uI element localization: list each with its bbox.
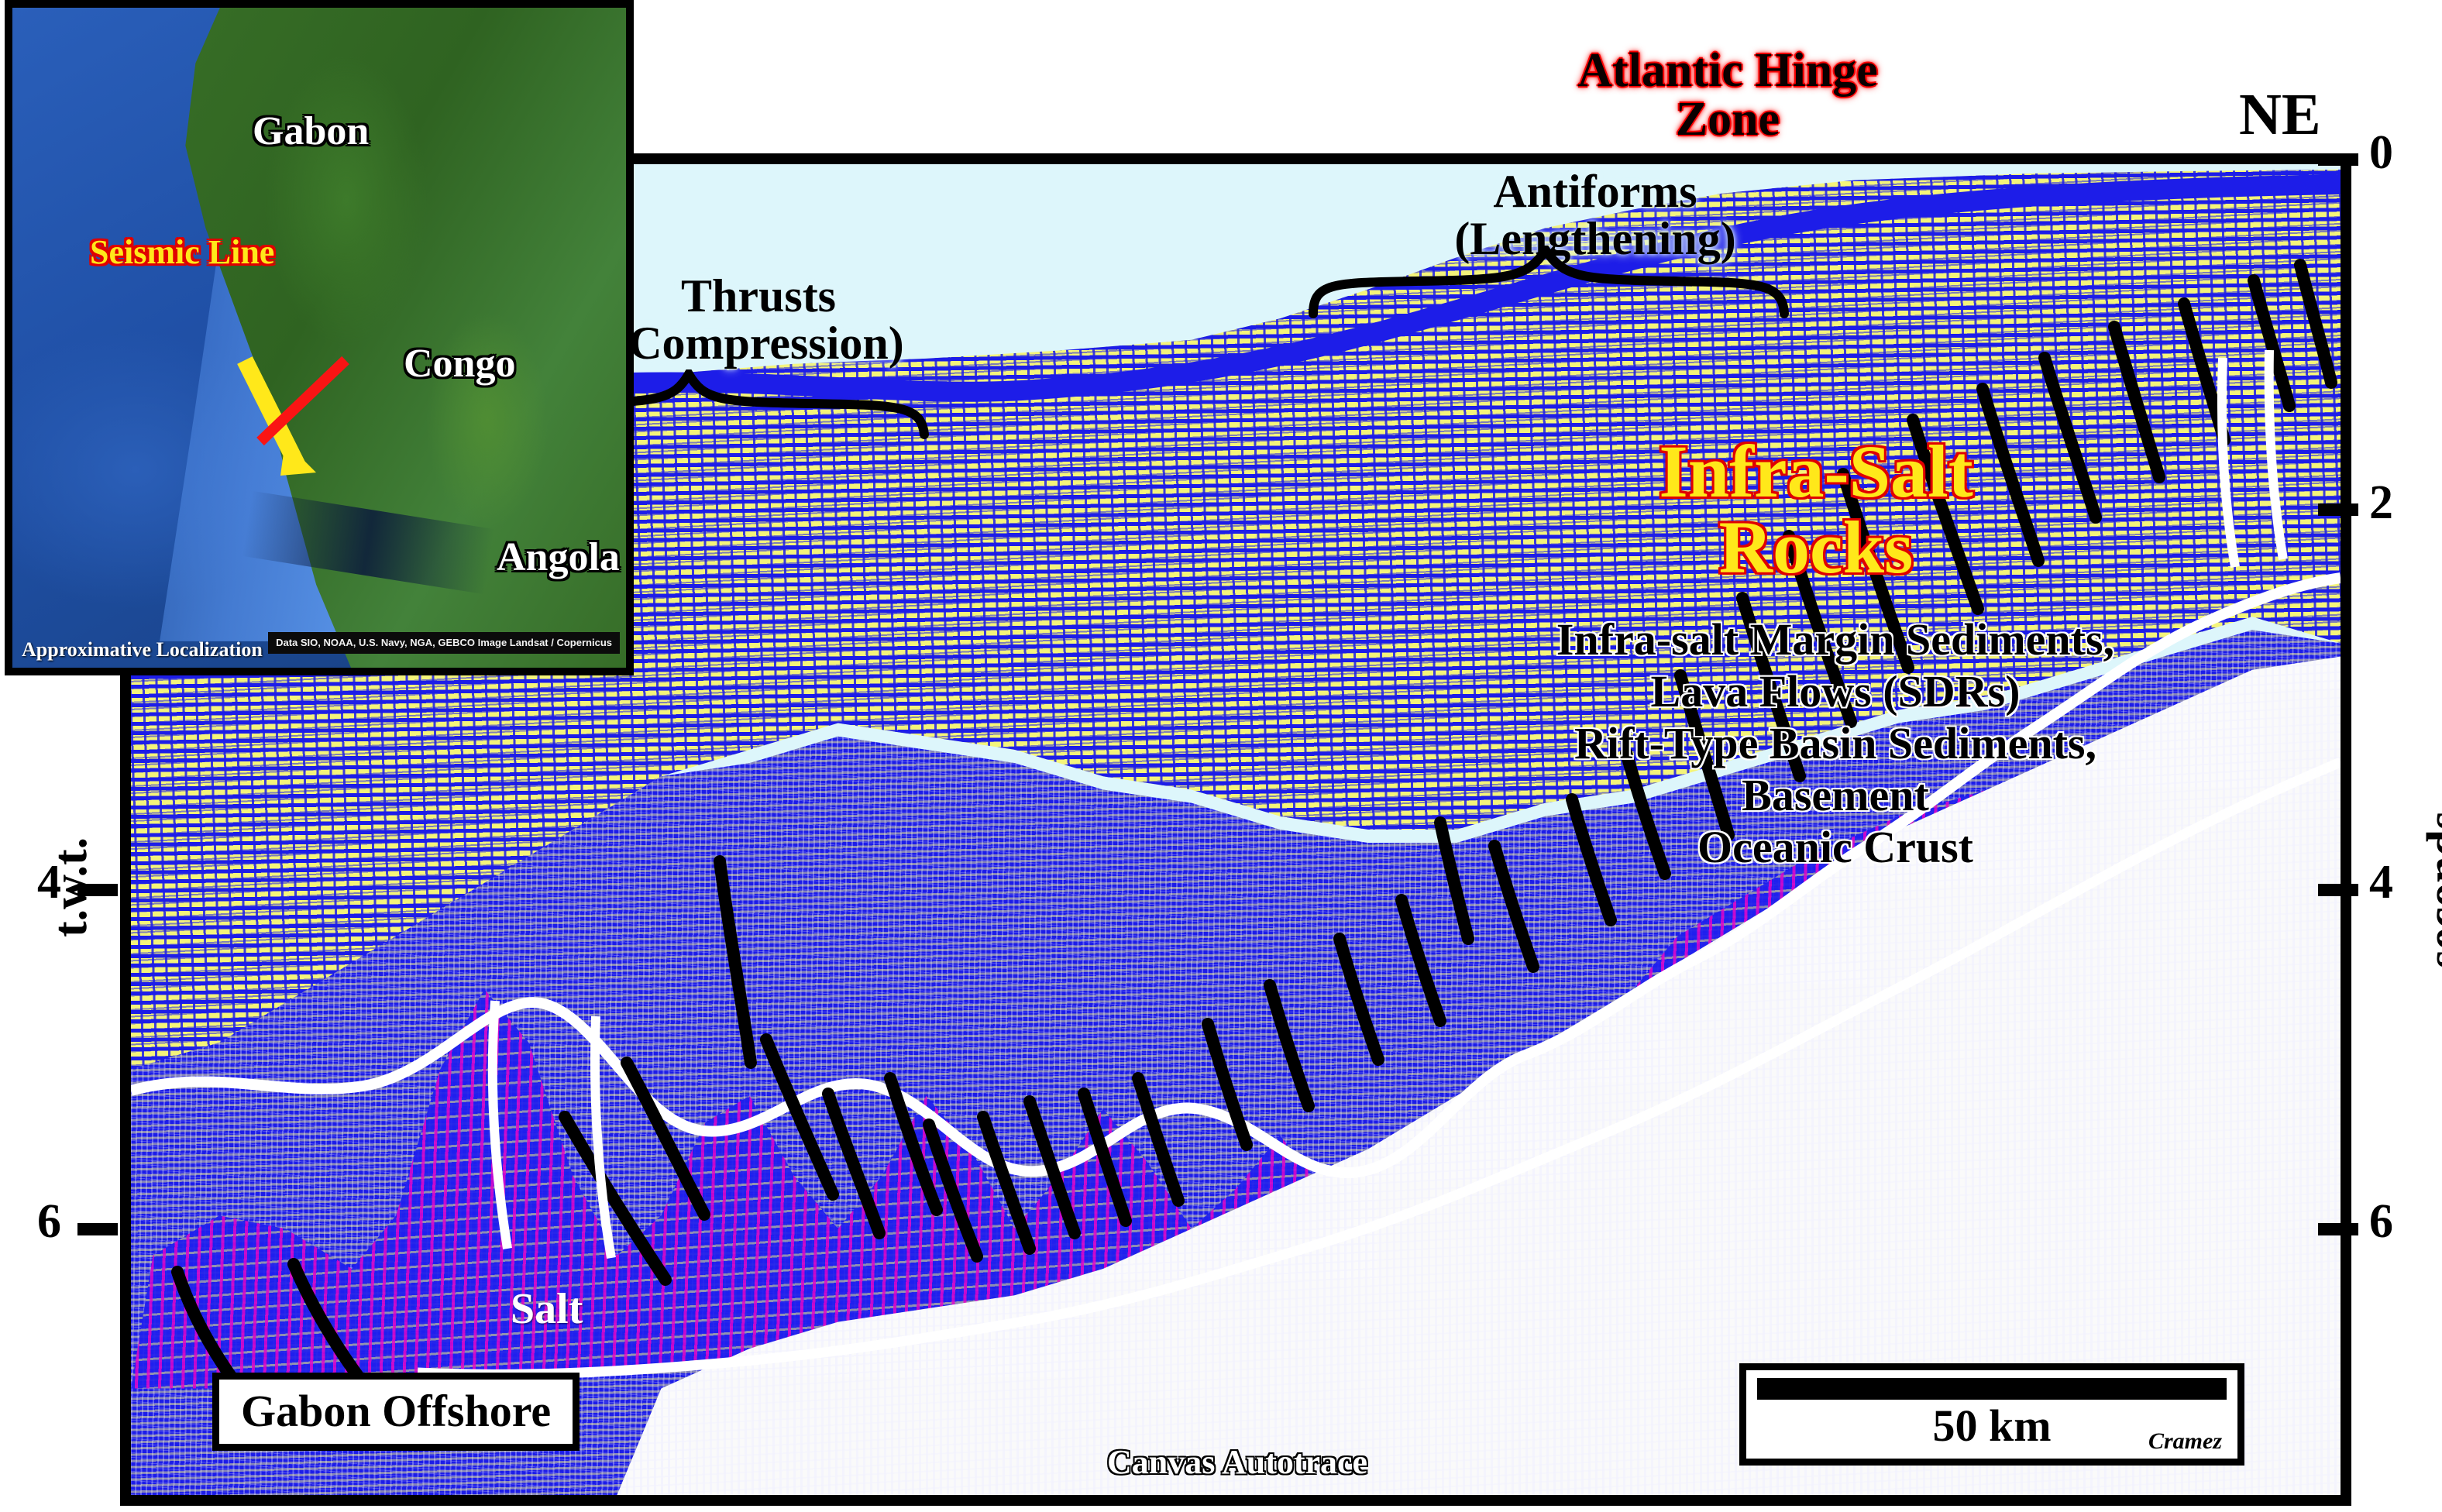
infra-salt-rocks-title: Infra-Salt Rocks bbox=[1518, 434, 2114, 586]
figure-root: Atlantic Hinge Zone NE bbox=[0, 0, 2442, 1512]
seismic-line-label: Seismic Line bbox=[90, 232, 274, 272]
scale-bar-rule bbox=[1757, 1378, 2227, 1400]
map-attribution: Data SIO, NOAA, U.S. Navy, NGA, GEBCO Im… bbox=[268, 632, 620, 654]
infra-salt-list: Infra-salt Margin Sediments, Lava Flows … bbox=[1448, 613, 2223, 873]
map-country-congo: Congo bbox=[404, 341, 515, 387]
location-box: Gabon Offshore bbox=[212, 1373, 580, 1451]
right-tick-6 bbox=[2318, 1223, 2358, 1235]
right-tick-4 bbox=[2318, 884, 2358, 896]
atlantic-hinge-zone-title: Atlantic Hinge Zone bbox=[1472, 46, 1983, 144]
infra-salt-list-item: Infra-salt Margin Sediments, bbox=[1448, 613, 2223, 665]
infra-salt-list-item: Basement bbox=[1448, 769, 2223, 821]
right-tick-label-0: 0 bbox=[2369, 129, 2393, 177]
right-tick-label-6: 6 bbox=[2369, 1198, 2393, 1246]
infra-salt-list-item: Rift-Type Basin Sediments, bbox=[1448, 717, 2223, 769]
canvas-autotrace-label: Canvas Autotrace bbox=[1107, 1445, 1367, 1480]
scale-bar: 50 km Cramez bbox=[1739, 1363, 2244, 1466]
right-tick-0 bbox=[2318, 153, 2358, 166]
scale-bar-label: 50 km bbox=[1932, 1400, 2051, 1452]
infra-salt-list-item: Oceanic Crust bbox=[1448, 821, 2223, 873]
antiforms-brace-icon bbox=[1309, 246, 1789, 319]
direction-label-ne: NE bbox=[2239, 85, 2321, 146]
right-tick-2 bbox=[2318, 503, 2358, 516]
map-footer-label: Approximative Localization bbox=[22, 638, 263, 661]
right-tick-label-2: 2 bbox=[2369, 479, 2393, 527]
salt-label: Salt bbox=[511, 1287, 583, 1332]
left-axis-title: t.w.t. bbox=[43, 837, 98, 937]
author-credit: Cramez bbox=[2148, 1428, 2222, 1455]
map-country-gabon: Gabon bbox=[253, 108, 369, 154]
left-tick-label-6: 6 bbox=[37, 1198, 61, 1246]
left-tick-6 bbox=[77, 1223, 118, 1235]
right-tick-label-4: 4 bbox=[2369, 858, 2393, 906]
scale-bar-row: 50 km Cramez bbox=[1757, 1400, 2227, 1452]
right-axis-title: seconds bbox=[2417, 811, 2442, 968]
infra-salt-list-item: Lava Flows (SDRs) bbox=[1448, 665, 2223, 717]
inset-location-map: Seismic Line Gabon Congo Angola Approxim… bbox=[5, 0, 634, 675]
seismic-line-arrow-head bbox=[280, 442, 316, 476]
map-country-angola: Angola bbox=[497, 534, 620, 580]
